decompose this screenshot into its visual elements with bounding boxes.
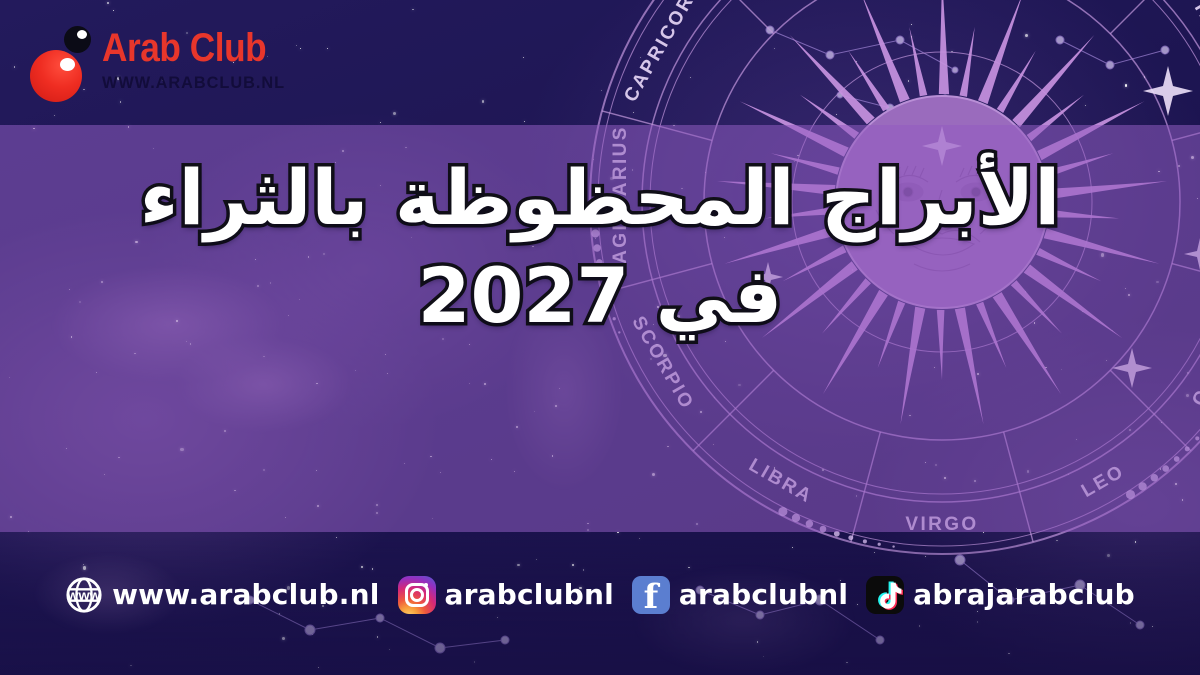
svg-text:www: www xyxy=(66,587,101,603)
social-item-instagram[interactable]: arabclubnl xyxy=(398,576,614,614)
social-label-facebook: arabclubnl xyxy=(679,578,848,611)
logo-black-ball-icon xyxy=(64,26,91,53)
logo-red-ball-icon xyxy=(30,50,82,102)
brand-text: Arab Club WWW.ARABCLUB.NL xyxy=(102,22,293,93)
brand-url: WWW.ARABCLUB.NL xyxy=(102,73,285,93)
social-item-facebook[interactable]: f arabclubnl xyxy=(632,576,848,614)
social-links-row: www www.arabclub.nl arabclubnl f arabclu… xyxy=(65,576,1135,632)
headline-block: الأبراج المحظوظة بالثراء في 2027 xyxy=(0,150,1200,346)
globe-icon: www xyxy=(65,576,103,614)
logo-mark-icon xyxy=(28,22,90,94)
brand-logo[interactable]: Arab Club WWW.ARABCLUB.NL xyxy=(28,22,293,94)
social-item-website[interactable]: www www.arabclub.nl xyxy=(65,576,379,614)
social-label-website: www.arabclub.nl xyxy=(112,578,379,611)
brand-name: Arab Club xyxy=(102,26,270,70)
headline-line-2: في 2027 xyxy=(0,246,1200,346)
poster-canvas: PISCESARIESTAURUSGEMINICANCERLEOVIRGOLIB… xyxy=(0,0,1200,675)
facebook-icon: f xyxy=(632,576,670,614)
social-item-tiktok[interactable]: abrajarabclub xyxy=(866,576,1135,614)
social-label-instagram: arabclubnl xyxy=(445,578,614,611)
footer-bar: www www.arabclub.nl arabclubnl f arabclu… xyxy=(0,532,1200,675)
headline-line-1: الأبراج المحظوظة بالثراء xyxy=(0,150,1200,246)
tiktok-icon xyxy=(866,576,904,614)
social-label-tiktok: abrajarabclub xyxy=(913,578,1135,611)
instagram-icon xyxy=(398,576,436,614)
